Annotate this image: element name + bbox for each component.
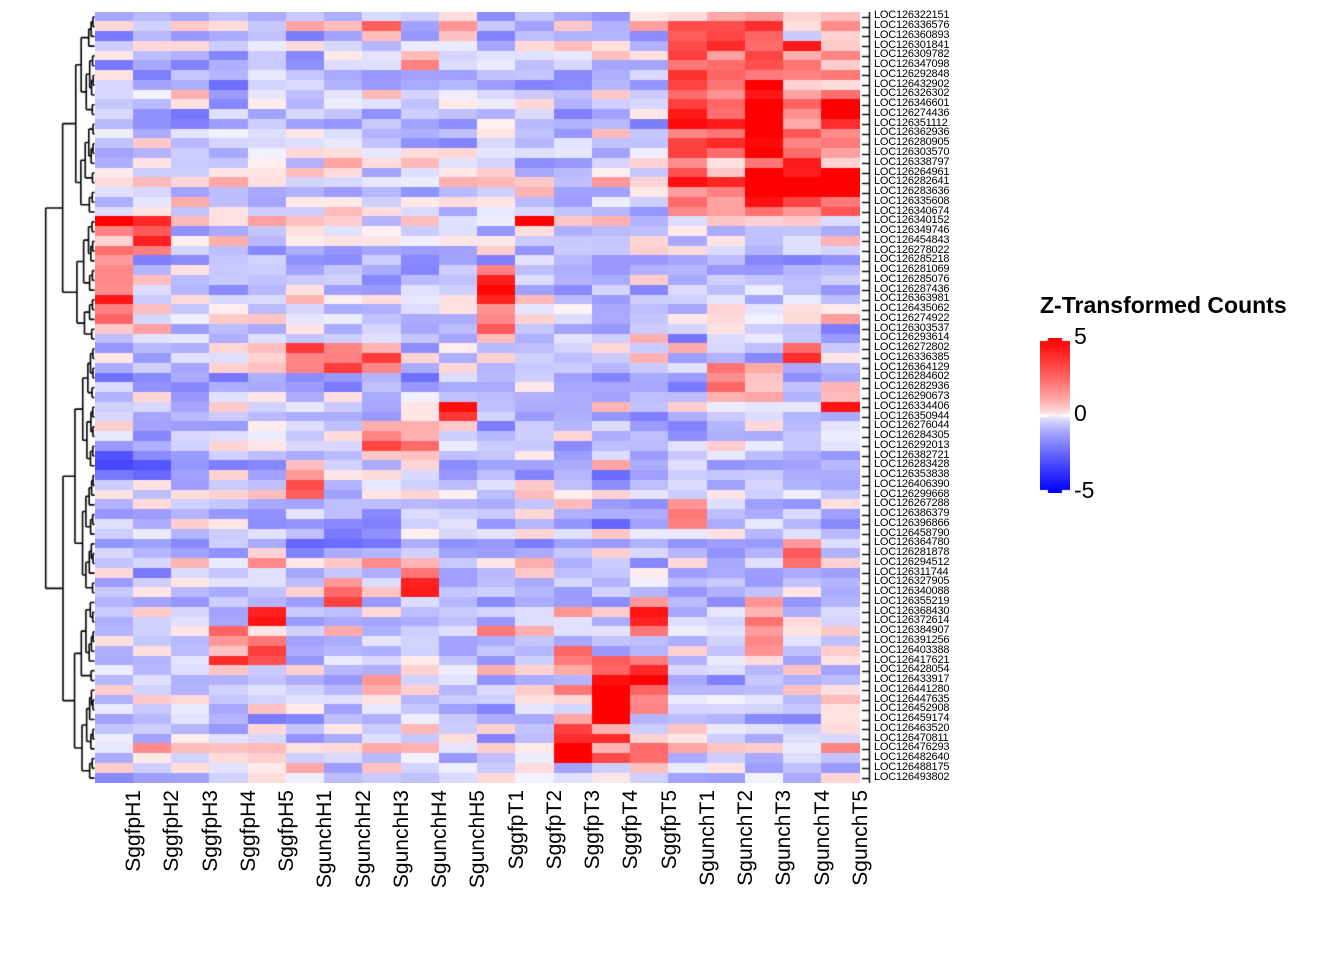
column-label-SggfpT5: SggfpT5: [658, 790, 682, 869]
legend: Z-Transformed Counts 50-5: [1040, 292, 1340, 512]
column-label-SggfpH3: SggfpH3: [199, 790, 223, 872]
row-label: LOC126493802: [874, 773, 949, 782]
column-label-SgunchH2: SgunchH2: [352, 790, 376, 888]
column-label-SgunchT5: SgunchT5: [849, 790, 873, 886]
column-label-SggfpH5: SggfpH5: [275, 790, 299, 872]
column-label-SgunchH3: SgunchH3: [390, 790, 414, 888]
row-tick-marks: [860, 12, 874, 783]
column-label-SggfpT4: SggfpT4: [619, 790, 643, 869]
row-labels: LOC126322151LOC126336576LOC126360893LOC1…: [874, 12, 1024, 783]
column-label-SgunchT4: SgunchT4: [811, 790, 835, 886]
column-label-SgunchT3: SgunchT3: [772, 790, 796, 886]
row-dendrogram: [8, 12, 95, 783]
colorbar-tick-neg5: -5: [1074, 479, 1094, 502]
column-label-SggfpT1: SggfpT1: [505, 790, 529, 869]
column-label-SggfpT2: SggfpT2: [543, 790, 567, 869]
column-labels: SggfpH1SggfpH2SggfpH3SggfpH4SggfpH5Sgunc…: [95, 786, 860, 956]
colorbar: [1040, 338, 1070, 493]
column-label-SgunchH4: SgunchH4: [428, 790, 452, 888]
colorbar-tick-5: 5: [1074, 325, 1087, 348]
figure-canvas: LOC126322151LOC126336576LOC126360893LOC1…: [0, 0, 1344, 960]
heatmap-grid[interactable]: [95, 12, 860, 783]
column-label-SgunchH1: SgunchH1: [313, 790, 337, 888]
column-label-SggfpH4: SggfpH4: [237, 790, 261, 872]
column-label-SgunchH5: SgunchH5: [466, 790, 490, 888]
column-label-SggfpH1: SggfpH1: [122, 790, 146, 872]
column-label-SggfpH2: SggfpH2: [160, 790, 184, 872]
column-label-SggfpT3: SggfpT3: [581, 790, 605, 869]
column-label-SgunchT2: SgunchT2: [734, 790, 758, 886]
legend-title: Z-Transformed Counts: [1040, 292, 1287, 319]
column-label-SgunchT1: SgunchT1: [696, 790, 720, 886]
colorbar-tick-0: 0: [1074, 402, 1087, 425]
